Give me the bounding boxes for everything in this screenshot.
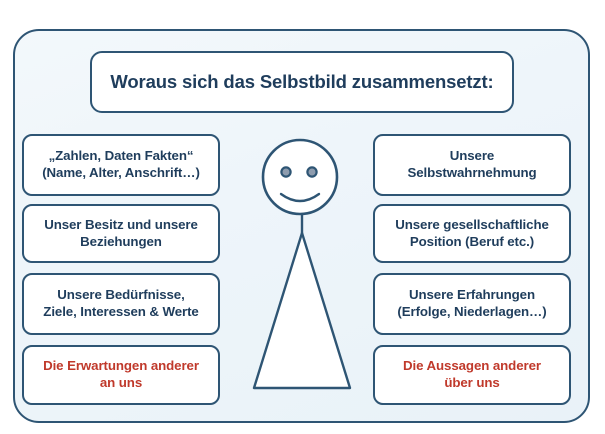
left-item-text: Unsere Bedürfnisse, Ziele, Interessen & … bbox=[37, 287, 204, 320]
left-item-line2: Ziele, Interessen & Werte bbox=[43, 304, 198, 319]
page-title: Woraus sich das Selbstbild zusammensetzt… bbox=[110, 70, 493, 93]
right-item-line2: Position (Beruf etc.) bbox=[410, 234, 534, 249]
left-item-line2: an uns bbox=[100, 375, 142, 390]
left-item-beduerfnisse-ziele: Unsere Bedürfnisse, Ziele, Interessen & … bbox=[22, 273, 220, 335]
left-item-text: Die Erwartungen anderer an uns bbox=[37, 358, 205, 391]
diagram-title-box: Woraus sich das Selbstbild zusammensetzt… bbox=[90, 51, 514, 113]
right-item-text: Unsere gesellschaftliche Position (Beruf… bbox=[389, 217, 555, 250]
right-item-text: Unsere Erfahrungen (Erfolge, Niederlagen… bbox=[391, 287, 552, 320]
right-item-line2: über uns bbox=[444, 375, 499, 390]
left-item-text: „Zahlen, Daten Fakten“ (Name, Alter, Ans… bbox=[36, 148, 206, 181]
left-item-line2: (Name, Alter, Anschrift…) bbox=[42, 165, 200, 180]
left-item-text: Unser Besitz und unsere Beziehungen bbox=[38, 217, 204, 250]
right-item-line2: Selbstwahrnehmung bbox=[407, 165, 536, 180]
left-item-zahlen-daten-fakten: „Zahlen, Daten Fakten“ (Name, Alter, Ans… bbox=[22, 134, 220, 196]
left-item-erwartungen-anderer: Die Erwartungen anderer an uns bbox=[22, 345, 220, 405]
right-item-text: Unsere Selbstwahrnehmung bbox=[401, 148, 542, 181]
right-item-line1: Unsere gesellschaftliche bbox=[395, 217, 549, 232]
left-item-besitz-beziehungen: Unser Besitz und unsere Beziehungen bbox=[22, 204, 220, 263]
left-item-line1: Unsere Bedürfnisse, bbox=[57, 287, 184, 302]
diagram-canvas: Woraus sich das Selbstbild zusammensetzt… bbox=[0, 0, 605, 434]
left-item-line2: Beziehungen bbox=[80, 234, 162, 249]
right-item-aussagen-anderer: Die Aussagen anderer über uns bbox=[373, 345, 571, 405]
right-item-line1: Unsere bbox=[450, 148, 495, 163]
right-item-line2: (Erfolge, Niederlagen…) bbox=[397, 304, 546, 319]
right-item-gesellschaftliche-position: Unsere gesellschaftliche Position (Beruf… bbox=[373, 204, 571, 263]
right-item-line1: Die Aussagen anderer bbox=[403, 358, 541, 373]
left-item-line1: Die Erwartungen anderer bbox=[43, 358, 199, 373]
right-item-erfahrungen: Unsere Erfahrungen (Erfolge, Niederlagen… bbox=[373, 273, 571, 335]
right-item-selbstwahrnehmung: Unsere Selbstwahrnehmung bbox=[373, 134, 571, 196]
left-item-line1: „Zahlen, Daten Fakten“ bbox=[49, 148, 194, 163]
right-item-text: Die Aussagen anderer über uns bbox=[397, 358, 547, 391]
right-item-line1: Unsere Erfahrungen bbox=[409, 287, 535, 302]
left-item-line1: Unser Besitz und unsere bbox=[44, 217, 198, 232]
